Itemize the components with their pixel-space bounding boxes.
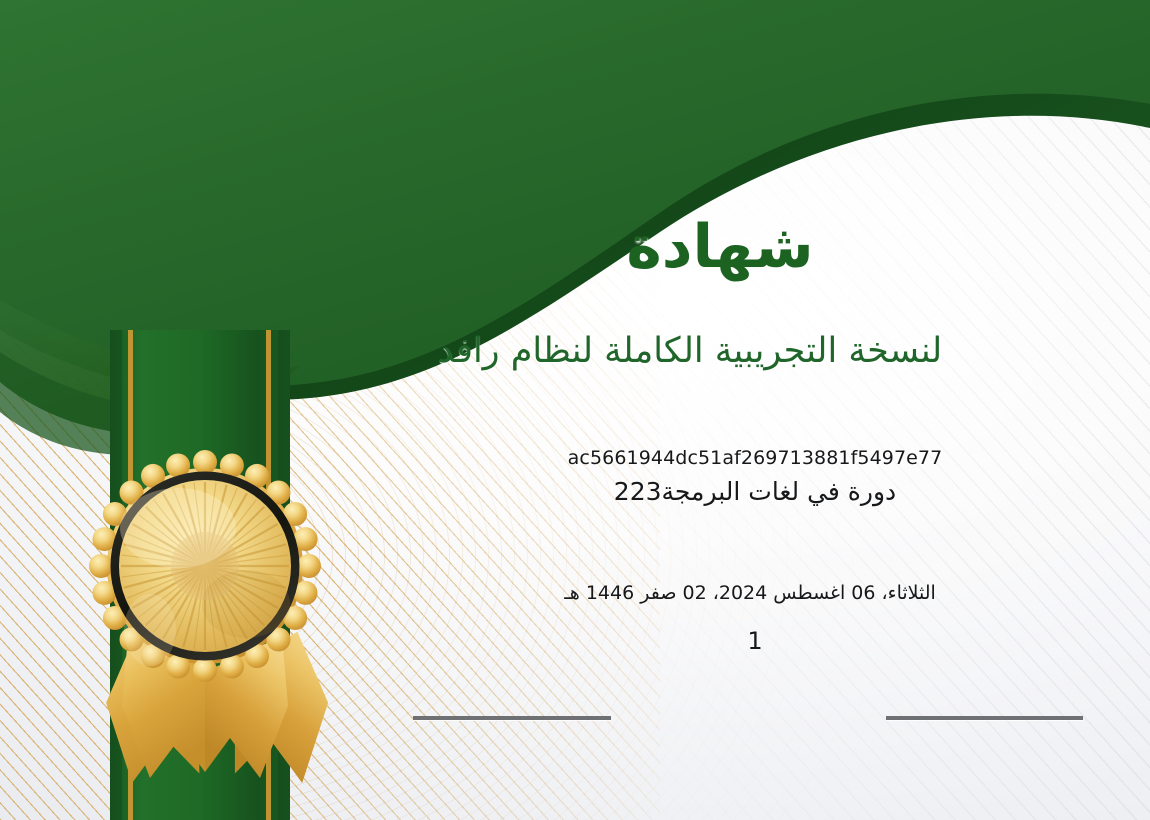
course-name: دورة في لغات البرمجة223: [420, 477, 1090, 506]
signature-line-left: [413, 716, 611, 720]
certificate-subtitle: لنسخة التجريبية الكاملة لنظام رافد: [300, 329, 1080, 375]
signature-line-right: [886, 716, 1083, 720]
serial-number: 1: [400, 627, 1110, 655]
page-title: شهادة: [360, 214, 1080, 280]
certificate-content: شهادة لنسخة التجريبية الكاملة لنظام رافد…: [0, 0, 1150, 820]
verification-hash: ac5661944dc51af269713881f5497e77: [420, 447, 1090, 469]
issue-date: الثلاثاء، 06 اغسطس 2024، 02 صفر 1446 هـ: [400, 582, 1100, 604]
certificate-document: شهادة لنسخة التجريبية الكاملة لنظام رافد…: [0, 0, 1150, 820]
